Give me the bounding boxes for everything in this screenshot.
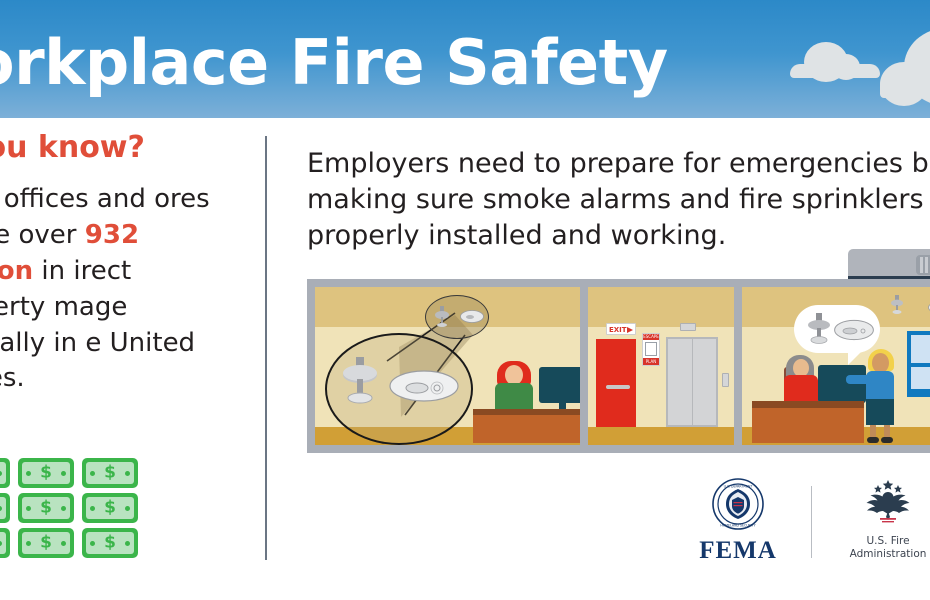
escape-plan-poster: ESCAPE PLAN [642, 333, 660, 366]
speech-bubble [794, 305, 880, 353]
desk [752, 408, 864, 443]
smoke-alarm-icon [834, 319, 874, 341]
smoke-alarm-icon [460, 310, 484, 323]
logo-separator [811, 486, 812, 558]
sprinkler-head-icon [806, 313, 832, 347]
money-bill: $ [18, 493, 74, 523]
column-divider [265, 136, 267, 560]
fema-wordmark: FEMA [683, 537, 793, 565]
dollar-sign-icon: $ [104, 535, 116, 552]
usfa-line-2: Administration [833, 548, 930, 561]
poster-footer-label: PLAN [643, 358, 659, 365]
sprinkler-head-icon [890, 295, 904, 315]
dollar-sign-icon: $ [104, 500, 116, 517]
did-you-know-heading: d you know? [0, 130, 234, 166]
exit-door[interactable] [596, 339, 636, 427]
exit-sign-label: EXIT [609, 325, 627, 335]
fema-logo: U.S. DEPARTMENT HOMELAND SECURITY FEMA [683, 478, 793, 565]
svg-text:U.S. DEPARTMENT: U.S. DEPARTMENT [724, 485, 753, 489]
usfa-wordmark: U.S. Fire Administration [833, 535, 930, 561]
money-bill: $ [18, 528, 74, 558]
exit-sign: EXIT [606, 323, 636, 335]
header-banner: orkplace Fire Safety [0, 0, 930, 118]
poster-floorplan [645, 342, 657, 356]
illustration-panel-office [315, 287, 580, 445]
smoke-alarm-icon [389, 369, 459, 403]
usfa-logo: U.S. Fire Administration [833, 478, 930, 561]
dollar-sign-icon: $ [40, 465, 52, 482]
cloud-icon-small [790, 42, 880, 74]
poster-header-label: ESCAPE [643, 334, 659, 340]
office-window [907, 331, 930, 393]
computer-monitor [539, 367, 580, 403]
body-line-1: Employers need to prepare for emergencie… [307, 146, 930, 182]
standing-person-arm [846, 375, 872, 384]
push-bar-icon [606, 385, 630, 389]
wall-unit-icon [848, 249, 930, 279]
dollar-sign-icon: $ [40, 500, 52, 517]
standing-person-shoe [881, 437, 893, 443]
body-line-3: properly installed and working. [307, 218, 930, 254]
standing-person-head [872, 353, 889, 373]
svg-text:HOMELAND SECURITY: HOMELAND SECURITY [720, 524, 755, 528]
desk-top-edge [752, 401, 864, 408]
illustration-strip: EXIT ESCAPE PLAN [307, 279, 930, 453]
magnifier-lens-large [325, 333, 473, 445]
money-bill: $ [82, 528, 138, 558]
standing-person-skirt [866, 399, 894, 425]
left-column: d you know? es in offices and ores cause… [0, 130, 234, 397]
magnifier-lens-small [425, 295, 489, 339]
dhs-seal-icon: U.S. DEPARTMENT HOMELAND SECURITY [712, 478, 764, 530]
elevator-call-button[interactable] [722, 373, 729, 387]
fact-text: es in offices and ores cause over 932 mi… [0, 182, 234, 397]
poster-page: orkplace Fire Safety d you know? es in o… [0, 0, 930, 600]
money-bill: $ [18, 458, 74, 488]
fact-segment-3: in [33, 256, 73, 286]
illustration-panel-discussion [742, 287, 930, 445]
fact-segment-1: es in offices and [0, 184, 154, 214]
dollar-sign-icon: $ [104, 465, 116, 482]
sprinkler-head-icon [341, 357, 379, 407]
exit-arrow-icon [627, 327, 633, 333]
cloud-icon-large [880, 28, 930, 94]
logo-row: U.S. DEPARTMENT HOMELAND SECURITY FEMA U… [655, 478, 920, 573]
worker-head [505, 365, 523, 385]
money-bill: $ [0, 493, 10, 523]
usfa-line-1: U.S. Fire [833, 535, 930, 548]
money-bill: $ [0, 528, 10, 558]
elevator-indicator [680, 323, 696, 331]
page-title: orkplace Fire Safety [0, 26, 668, 99]
money-bill: $ [82, 493, 138, 523]
elevator-doors[interactable] [666, 337, 718, 427]
money-bill: $ [0, 458, 10, 488]
money-bill: $ [82, 458, 138, 488]
eagle-emblem-icon [858, 478, 918, 528]
illustration-panel-exit: EXIT ESCAPE PLAN [588, 287, 734, 445]
money-damage-graphic: $ $ $ $ $ $ $ $ $ [0, 440, 214, 570]
desk [473, 415, 580, 443]
body-line-2: making sure smoke alarms and fire sprink… [307, 182, 930, 218]
dollar-sign-icon: $ [40, 535, 52, 552]
standing-person-shoe [867, 437, 879, 443]
body-text: Employers need to prepare for emergencie… [307, 146, 930, 254]
sprinkler-head-icon [434, 306, 450, 328]
computer-monitor [818, 365, 866, 403]
